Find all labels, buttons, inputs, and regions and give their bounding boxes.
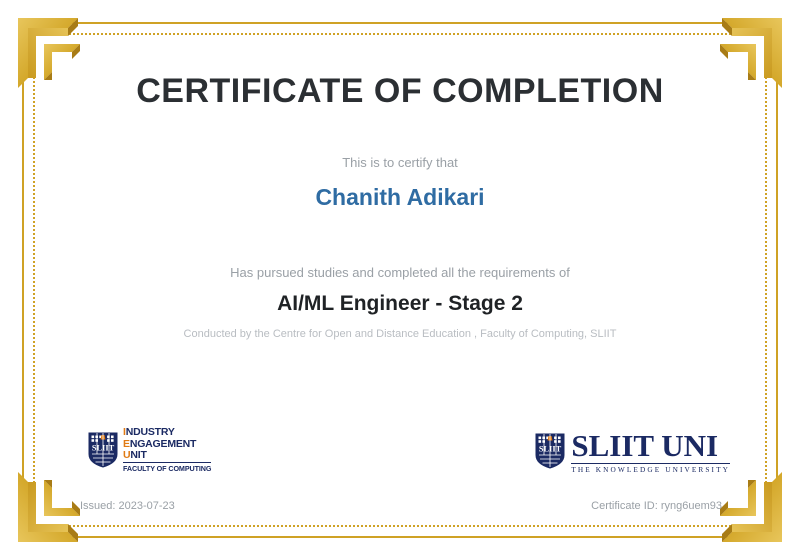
ieu-initial-e: E xyxy=(123,438,130,450)
border-line-bottom xyxy=(22,536,778,538)
sliit-tagline: THE KNOWLEDGE UNIVERSITY xyxy=(571,463,730,475)
ieu-subtitle: FACULTY OF COMPUTING xyxy=(123,462,211,472)
certificate-title: CERTIFICATE OF COMPLETION xyxy=(60,72,740,111)
industry-engagement-unit-logo: SLIIT INDUSTRY ENGAGEMENT UNIT FACULTY O… xyxy=(88,427,211,472)
dotted-border-top xyxy=(33,33,767,35)
ieu-line-engagement: ENGAGEMENT xyxy=(123,439,211,450)
dotted-border-left xyxy=(33,33,35,527)
border-line-top xyxy=(22,22,778,24)
dotted-border-bottom xyxy=(33,525,767,527)
certificate-document: CERTIFICATE OF COMPLETION This is to cer… xyxy=(0,0,800,560)
border-line-right xyxy=(776,22,778,538)
issued-date: Issued: 2023-07-23 xyxy=(80,500,175,512)
sliit-shield-icon: SLIIT xyxy=(88,432,118,468)
sliit-wordmark-group: SLIIT UNI THE KNOWLEDGE UNIVERSITY xyxy=(571,431,730,474)
border-line-left xyxy=(22,22,24,538)
sliit-crest-icon: SLIIT xyxy=(535,433,565,469)
sliit-university-logo: SLIIT SLIIT UNI THE KNOWLEDGE UNIVERSITY xyxy=(535,431,730,474)
sliit-wordmark: SLIIT UNI xyxy=(571,431,730,460)
ieu-word-unit: NIT xyxy=(130,449,146,461)
dotted-border-right xyxy=(765,33,767,527)
recipient-name: Chanith Adikari xyxy=(60,184,740,211)
ieu-line-industry: INDUSTRY xyxy=(123,427,211,438)
certify-statement: This is to certify that xyxy=(60,155,740,170)
requirements-statement: Has pursued studies and completed all th… xyxy=(60,265,740,280)
certificate-id: Certificate ID: ryng6uem93 xyxy=(591,500,722,512)
course-name: AI/ML Engineer - Stage 2 xyxy=(60,292,740,316)
ieu-word-engagement: NGAGEMENT xyxy=(130,438,196,450)
ieu-word-industry: NDUSTRY xyxy=(126,426,175,438)
ieu-line-unit: UNIT xyxy=(123,450,211,461)
conducted-by-statement: Conducted by the Centre for Open and Dis… xyxy=(60,328,740,340)
ieu-wordmark: INDUSTRY ENGAGEMENT UNIT FACULTY OF COMP… xyxy=(123,427,211,472)
certificate-body: CERTIFICATE OF COMPLETION This is to cer… xyxy=(60,48,740,340)
